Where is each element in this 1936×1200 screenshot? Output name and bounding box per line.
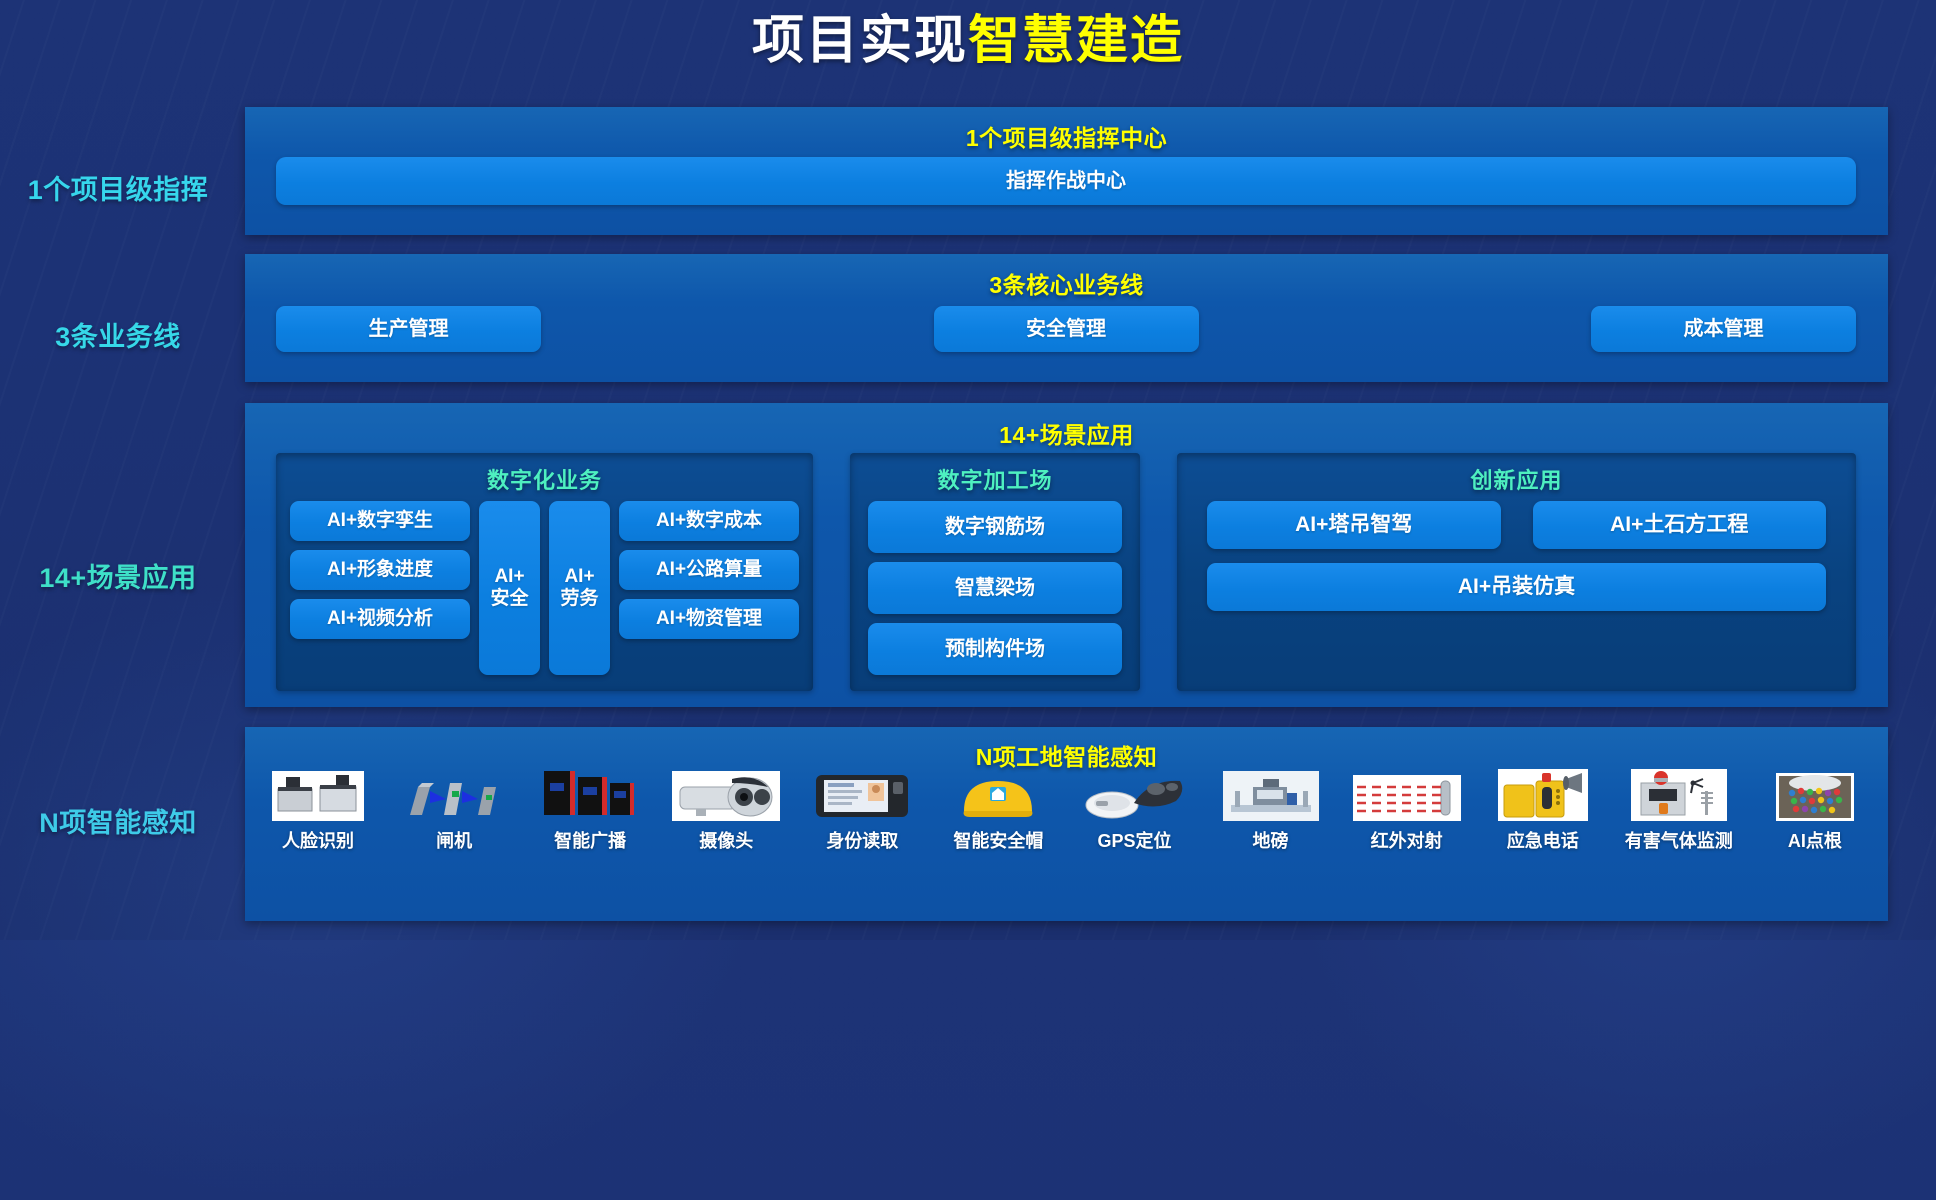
device-label: 有害气体监测: [1625, 827, 1733, 853]
business-button-cost[interactable]: 成本管理: [1591, 306, 1856, 352]
scene-button-digital-twin[interactable]: AI+数字孪生: [290, 501, 470, 541]
scene-button-ai-safety[interactable]: AI+ 安全: [479, 501, 540, 675]
scene-button-ai-labor[interactable]: AI+ 劳务: [549, 501, 610, 675]
digital-business-left-column: AI+数字孪生 AI+形象进度 AI+视频分析: [290, 501, 470, 675]
device-label: GPS定位: [1097, 827, 1171, 853]
section-command-heading: 1个项目级指挥中心: [245, 107, 1888, 153]
device-item[interactable]: 人脸识别: [259, 769, 377, 853]
device-item[interactable]: 智能广播: [531, 769, 649, 853]
device-item[interactable]: 有害气体监测: [1620, 769, 1738, 853]
section-command-panel: 1个项目级指挥中心 指挥作战中心: [245, 107, 1888, 235]
weighbridge-icon: [1223, 769, 1319, 821]
rail-label-scenes: 14+场景应用: [0, 556, 236, 595]
device-label: 闸机: [436, 827, 472, 853]
camera-icon: [672, 769, 780, 821]
rail-label-command: 1个项目级指挥: [0, 168, 236, 207]
scene-button-ai-safety-line2: 安全: [491, 588, 529, 610]
device-strip: 人脸识别 闸机 智能广播 摄像头 身份读取: [259, 769, 1874, 853]
scene-group-title-digital-business: 数字化业务: [276, 453, 813, 495]
scene-button-video-analysis[interactable]: AI+视频分析: [290, 599, 470, 639]
page-title-white: 项目实现: [752, 12, 968, 70]
scene-groups: 数字化业务 AI+数字孪生 AI+形象进度 AI+视频分析 AI+ 安全 AI+: [276, 453, 1856, 691]
digital-business-right-column: AI+数字成本 AI+公路算量 AI+物资管理: [619, 501, 799, 675]
emergency-phone-icon: [1498, 769, 1588, 821]
scene-group-innovation: 创新应用 AI+塔吊智驾 AI+土石方工程 AI+吊装仿真: [1177, 453, 1856, 691]
device-item[interactable]: 闸机: [395, 769, 513, 853]
scene-button-ai-safety-line1: AI+: [494, 566, 524, 588]
device-label: AI点根: [1788, 827, 1842, 853]
device-item[interactable]: 身份读取: [803, 769, 921, 853]
smart-broadcast-icon: [540, 769, 640, 821]
section-sensing-panel: N项工地智能感知 人脸识别 闸机 智能广播 摄像头: [245, 727, 1888, 921]
scene-button-ai-labor-line2: 劳务: [560, 588, 598, 610]
scene-button-precast-yard[interactable]: 预制构件场: [868, 623, 1122, 675]
ai-rebar-count-icon: [1776, 769, 1854, 821]
scene-button-road-quantity[interactable]: AI+公路算量: [619, 550, 799, 590]
device-item[interactable]: 红外对射: [1348, 769, 1466, 853]
scene-group-digital-factory: 数字加工场 数字钢筋场 智慧梁场 预制构件场: [850, 453, 1140, 691]
scene-button-digital-cost[interactable]: AI+数字成本: [619, 501, 799, 541]
id-reader-icon: [812, 769, 912, 821]
business-button-safety[interactable]: 安全管理: [934, 306, 1199, 352]
smart-helmet-icon: [956, 769, 1040, 821]
scene-button-image-progress[interactable]: AI+形象进度: [290, 550, 470, 590]
scene-group-title-digital-factory: 数字加工场: [850, 453, 1140, 495]
section-business-heading: 3条核心业务线: [245, 254, 1888, 300]
digital-business-tall-labor: AI+ 劳务: [549, 501, 610, 675]
business-button-production[interactable]: 生产管理: [276, 306, 541, 352]
digital-business-body: AI+数字孪生 AI+形象进度 AI+视频分析 AI+ 安全 AI+ 劳务: [290, 501, 799, 675]
digital-factory-body: 数字钢筋场 智慧梁场 预制构件场: [868, 501, 1122, 675]
innovation-row-bottom: AI+吊装仿真: [1207, 563, 1826, 611]
command-center-button[interactable]: 指挥作战中心: [276, 157, 1856, 205]
rail-label-business: 3条业务线: [0, 315, 236, 354]
infrared-barrier-icon: [1353, 769, 1461, 821]
scene-button-lifting-simulation[interactable]: AI+吊装仿真: [1207, 563, 1826, 611]
scene-button-tower-crane[interactable]: AI+塔吊智驾: [1207, 501, 1501, 549]
gps-tracker-icon: [1082, 769, 1186, 821]
turnstile-icon: [404, 769, 504, 821]
device-label: 应急电话: [1507, 827, 1579, 853]
page-title: 项目实现智慧建造: [0, 6, 1936, 76]
gas-monitor-icon: [1631, 769, 1727, 821]
scene-button-ai-labor-line1: AI+: [564, 566, 594, 588]
section-scenes-heading: 14+场景应用: [245, 403, 1888, 450]
scene-group-title-innovation: 创新应用: [1177, 453, 1856, 495]
page-title-yellow: 智慧建造: [968, 12, 1184, 70]
scene-group-digital-business: 数字化业务 AI+数字孪生 AI+形象进度 AI+视频分析 AI+ 安全 AI+: [276, 453, 813, 691]
device-label: 红外对射: [1371, 827, 1443, 853]
scene-button-material-management[interactable]: AI+物资管理: [619, 599, 799, 639]
device-label: 人脸识别: [282, 827, 354, 853]
device-item[interactable]: 智能安全帽: [939, 769, 1057, 853]
device-item[interactable]: AI点根: [1756, 769, 1874, 853]
scene-button-rebar-yard[interactable]: 数字钢筋场: [868, 501, 1122, 553]
digital-business-tall-safety: AI+ 安全: [479, 501, 540, 675]
innovation-row-top: AI+塔吊智驾 AI+土石方工程: [1207, 501, 1826, 549]
section-scenes-panel: 14+场景应用 数字化业务 AI+数字孪生 AI+形象进度 AI+视频分析 AI…: [245, 403, 1888, 707]
scene-button-smart-beam-yard[interactable]: 智慧梁场: [868, 562, 1122, 614]
device-item[interactable]: 地磅: [1212, 769, 1330, 853]
device-label: 智能广播: [554, 827, 626, 853]
device-label: 智能安全帽: [953, 827, 1043, 853]
section-business-panel: 3条核心业务线 生产管理 安全管理 成本管理: [245, 254, 1888, 382]
device-label: 地磅: [1253, 827, 1289, 853]
rail-label-sensing: N项智能感知: [0, 801, 236, 840]
device-label: 身份读取: [826, 827, 898, 853]
scene-button-earthwork[interactable]: AI+土石方工程: [1533, 501, 1827, 549]
device-label: 摄像头: [699, 827, 753, 853]
section-sensing-heading: N项工地智能感知: [245, 727, 1888, 772]
device-item[interactable]: GPS定位: [1075, 769, 1193, 853]
device-item[interactable]: 应急电话: [1484, 769, 1602, 853]
device-item[interactable]: 摄像头: [667, 769, 785, 853]
face-recognition-gate-icon: [272, 769, 364, 821]
innovation-body: AI+塔吊智驾 AI+土石方工程 AI+吊装仿真: [1207, 501, 1826, 673]
business-button-row: 生产管理 安全管理 成本管理: [276, 306, 1856, 352]
